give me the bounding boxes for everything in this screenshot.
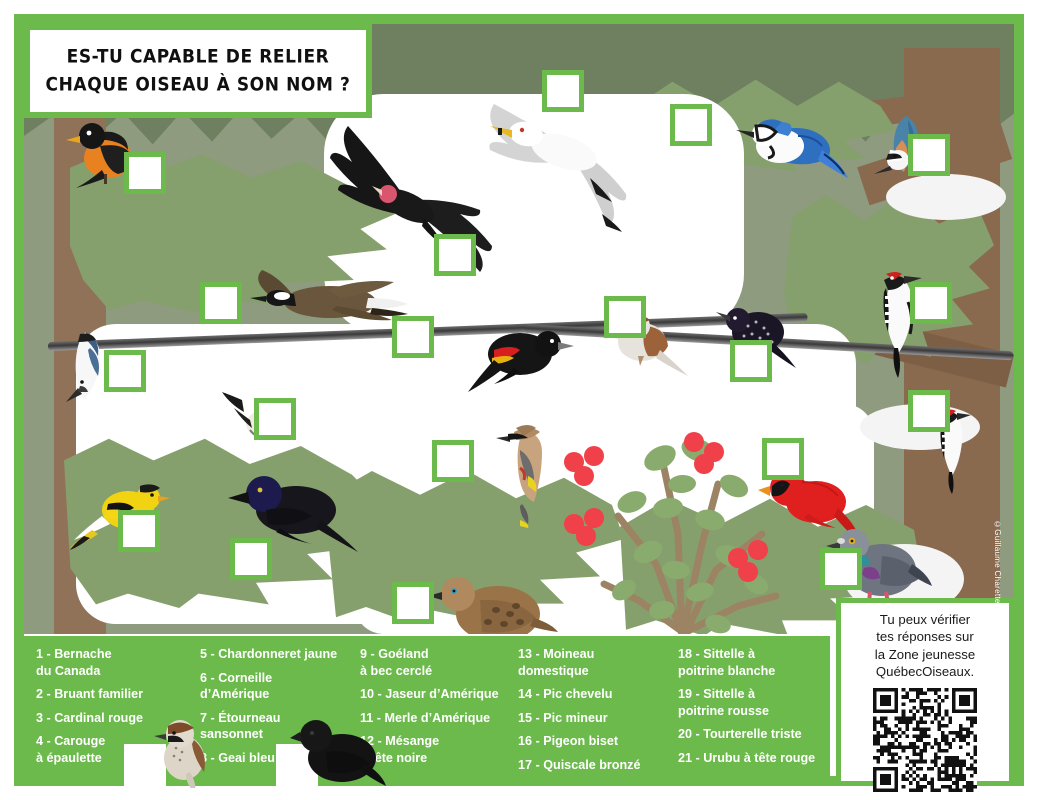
answer-box-geai-bleu[interactable] — [670, 104, 712, 146]
answer-box-urubu-a-tete-rouge[interactable] — [434, 234, 476, 276]
answer-box-cardinal-rouge[interactable] — [762, 438, 804, 480]
legend-column-4: 13 - Moineau domestique14 - Pic chevelu1… — [506, 646, 666, 786]
legend-item: 13 - Moineau domestique — [518, 646, 662, 679]
qr-code[interactable] — [873, 688, 977, 792]
legend-item: 21 - Urubu à tête rouge — [678, 750, 826, 767]
legend-column-5: 18 - Sittelle à poitrine blanche19 - Sit… — [666, 646, 830, 786]
legend-item: 20 - Tourterelle triste — [678, 726, 826, 743]
legend-item: 14 - Pic chevelu — [518, 686, 662, 703]
answer-box-bernache-du-canada[interactable] — [200, 282, 242, 324]
verification-line-4: QuébecOiseaux. — [847, 663, 1003, 680]
bird-bernache-du-canada — [232, 264, 412, 344]
answer-box-sittelle-a-poitrine-blanche[interactable] — [104, 350, 146, 392]
answer-box-goeland-a-bec-cercle[interactable] — [542, 70, 584, 112]
legend-item: 5 - Chardonneret jaune — [200, 646, 344, 663]
legend-item: 15 - Pic mineur — [518, 710, 662, 727]
bird-moineau-domestique — [146, 714, 220, 788]
credit-text: ©Guillaume Charette — [986, 520, 1002, 640]
verification-line-2: tes réponses sur — [847, 628, 1003, 645]
legend-item: 6 - Corneille d’Amérique — [200, 670, 344, 703]
legend-item: 19 - Sittelle à poitrine rousse — [678, 686, 826, 719]
verification-text: Tu peux vérifier tes réponses sur la Zon… — [847, 611, 1003, 681]
legend-item: 9 - Goéland à bec cerclé — [360, 646, 502, 679]
answer-box-pigeon-biset[interactable] — [820, 548, 862, 590]
title-line-2: CHAQUE OISEAU À SON NOM ? — [46, 71, 351, 99]
legend-item: 1 - Bernache du Canada — [36, 646, 184, 679]
answer-box-pic-mineur[interactable] — [908, 390, 950, 432]
answer-box-tourterelle-triste[interactable] — [392, 582, 434, 624]
answer-box-mesange-a-tete-noire[interactable] — [254, 398, 296, 440]
legend-item: 16 - Pigeon biset — [518, 733, 662, 750]
legend-item: 2 - Bruant familier — [36, 686, 184, 703]
answer-box-quiscale-bronze[interactable] — [230, 538, 272, 580]
bird-carouge-a-epaulette — [464, 320, 574, 398]
verification-line-1: Tu peux vérifier — [847, 611, 1003, 628]
verification-line-3: la Zone jeunesse — [847, 646, 1003, 663]
bird-tourterelle-triste — [420, 570, 560, 634]
title-card: ES-TU CAPABLE DE RELIER CHAQUE OISEAU À … — [24, 24, 372, 118]
answer-box-merle-damerique[interactable] — [124, 152, 166, 194]
answer-box-jaseur-damerique[interactable] — [432, 440, 474, 482]
answer-box-carouge-a-epaulette[interactable] — [392, 316, 434, 358]
answer-box-sittelle-a-poitrine-rousse[interactable] — [908, 134, 950, 176]
legend-item: 10 - Jaseur d’Amérique — [360, 686, 502, 703]
legend-item: 17 - Quiscale bronzé — [518, 757, 662, 774]
answer-box-pic-chevelu[interactable] — [910, 282, 952, 324]
legend-item: 18 - Sittelle à poitrine blanche — [678, 646, 826, 679]
page-title: ES-TU CAPABLE DE RELIER CHAQUE OISEAU À … — [46, 43, 351, 98]
bird-geai-bleu — [718, 106, 848, 186]
answer-box-chardonneret-jaune[interactable] — [118, 510, 160, 552]
answer-box-etourneau-sansonnet[interactable] — [730, 340, 772, 382]
answer-box-bruant-familier[interactable] — [604, 296, 646, 338]
bird-corneille-damerique — [290, 712, 386, 790]
poster-root: ES-TU CAPABLE DE RELIER CHAQUE OISEAU À … — [0, 0, 1038, 800]
bird-jaseur-damerique — [490, 420, 570, 530]
title-line-1: ES-TU CAPABLE DE RELIER — [46, 43, 351, 71]
